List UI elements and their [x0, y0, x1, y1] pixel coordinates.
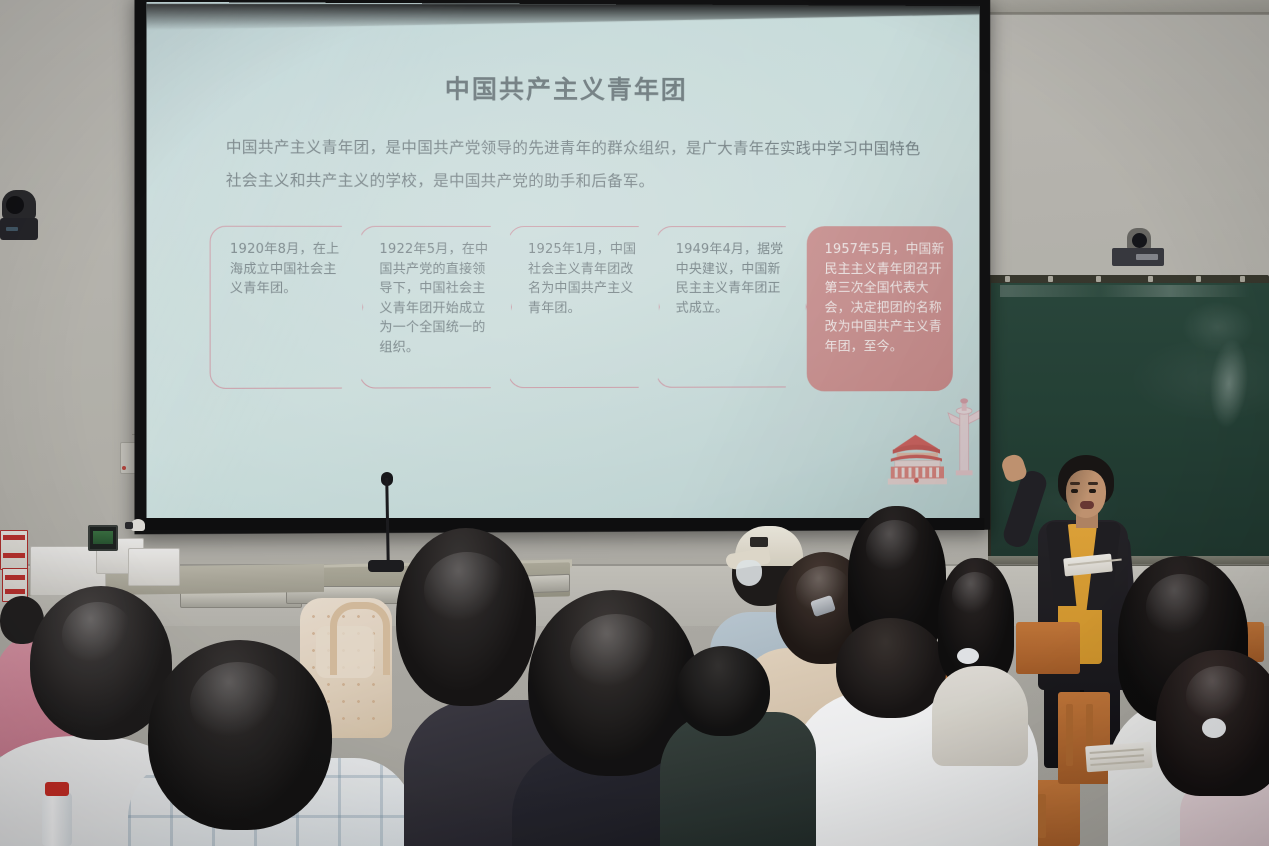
slide-body-text: 中国共产主义青年团，是中国共产党领导的先进青年的群众组织，是广大青年在实践中学习…: [226, 131, 925, 198]
microphone-base: [368, 560, 404, 572]
presenter-eye: [1089, 489, 1096, 493]
control-panel-display: [88, 525, 118, 551]
water-bottle: [42, 792, 72, 846]
chair: [1016, 622, 1080, 674]
projection-screen: 中国共产主义青年团 中国共产主义青年团，是中国共产党领导的先进青年的群众组织，是…: [147, 2, 980, 524]
board-clip: [1005, 276, 1010, 282]
equipment-box: [128, 548, 180, 586]
board-clip: [1096, 276, 1101, 282]
notebook: [1085, 742, 1153, 773]
slide-title: 中国共产主义青年团: [147, 68, 980, 107]
tiananmen-gate-icon: [883, 391, 980, 491]
timeline-step-label: 1925年1月，中国社会主义青年团改名为中国共产主义青年团。: [528, 240, 644, 318]
carton-box: [0, 530, 28, 570]
timeline-step-label: 1922年5月，在中国共产党的直接领导下，中国社会主义青年团开始成立为一个全国统…: [379, 240, 496, 357]
classroom-photo: 中国共产主义青年团 中国共产主义青年团，是中国共产党领导的先进青年的群众组织，是…: [0, 0, 1269, 846]
ceiling-beam-shadow: [948, 12, 1269, 15]
chalk-smudge: [1179, 299, 1257, 355]
timeline-group: 1920年8月，在上海成立中国社会主义青年团。 1922年5月，在中国共产党的直…: [210, 226, 979, 397]
timeline-step-label: 1957年5月，中国新民主主义青年团召开第三次全国代表大会，决定把团的名称改为中…: [825, 240, 945, 356]
presenter-face-shading: [1066, 470, 1106, 518]
timeline-step-1: 1920年8月，在上海成立中国社会主义青年团。: [210, 226, 364, 389]
presenter-mouth: [1080, 501, 1094, 509]
face-mask: [736, 560, 762, 586]
bottle-cap: [45, 782, 69, 796]
blackboard-chalk-line: [1000, 285, 1250, 297]
board-clip: [1240, 276, 1245, 282]
timeline-step-2: 1922年5月，在中国共产党的直接领导下，中国社会主义青年团开始成立为一个全国统…: [359, 226, 512, 389]
screen-bottom-edge: [145, 518, 985, 530]
backpack-strap: [330, 602, 390, 675]
board-clip: [1148, 276, 1153, 282]
timeline-step-5-highlighted: 1957年5月，中国新民主主义青年团召开第三次全国代表大会，决定把团的名称改为中…: [807, 226, 953, 391]
board-clip: [1048, 276, 1053, 282]
timeline-step-label: 1920年8月，在上海成立中国社会主义青年团。: [230, 240, 347, 299]
timeline-step-label: 1949年4月，据党中央建议，中国新民主主义青年团正式成立。: [676, 240, 791, 318]
presentation-slide: 中国共产主义青年团 中国共产主义青年团，是中国共产党领导的先进青年的群众组织，是…: [147, 2, 980, 524]
presenter-eyebrow: [1088, 482, 1098, 485]
ptz-camera-icon: [1112, 228, 1164, 270]
cap-logo: [750, 537, 768, 547]
ptz-camera-icon: [0, 190, 38, 242]
hair-tie: [1202, 718, 1226, 738]
presenter-eyebrow: [1070, 482, 1080, 485]
board-clip: [1196, 276, 1201, 282]
document-camera-icon: [131, 519, 145, 531]
presenter-eye: [1071, 489, 1078, 493]
timeline-step-4: 1949年4月，据党中央建议，中国新民主主义青年团正式成立。: [656, 226, 807, 388]
timeline-step-3: 1925年1月，中国社会主义青年团改名为中国共产主义青年团。: [508, 226, 660, 388]
hair-tie: [957, 648, 979, 664]
